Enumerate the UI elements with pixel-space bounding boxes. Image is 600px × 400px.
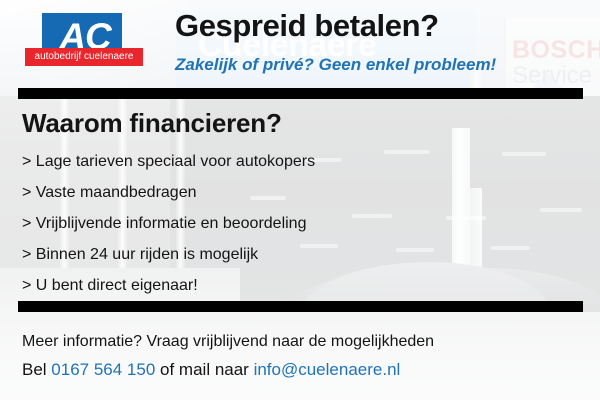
footer-call-label: Bel bbox=[22, 360, 51, 379]
section-title: Waarom financieren? bbox=[22, 108, 282, 139]
list-item: > Vrijblijvende informatie en beoordelin… bbox=[22, 208, 315, 239]
page-subtitle: Zakelijk of privé? Geen enkel probleem! bbox=[175, 55, 496, 75]
logo-tagline: autobedrijf cuelenaere bbox=[25, 48, 143, 66]
divider-bottom bbox=[18, 301, 583, 312]
footer-contact-line: Bel 0167 564 150 of mail naar info@cuele… bbox=[22, 360, 400, 380]
phone-number-link[interactable]: 0167 564 150 bbox=[51, 360, 155, 379]
page-title: Gespreid betalen? bbox=[175, 8, 439, 44]
list-item: > Vaste maandbedragen bbox=[22, 177, 315, 208]
benefits-list: > Lage tarieven speciaal voor autokopers… bbox=[22, 146, 315, 301]
email-link[interactable]: info@cuelenaere.nl bbox=[254, 360, 401, 379]
banner-content: AC autobedrijf cuelenaere Gespreid betal… bbox=[0, 0, 600, 400]
footer-mail-label: of mail naar bbox=[155, 360, 253, 379]
list-item: > U bent direct eigenaar! bbox=[22, 270, 315, 301]
footer-info-text: Meer informatie? Vraag vrijblijvend naar… bbox=[22, 333, 434, 351]
divider-top bbox=[18, 88, 583, 99]
list-item: > Lage tarieven speciaal voor autokopers bbox=[22, 146, 315, 177]
finance-promo-banner: Cuelenaere BOSCH Service bbox=[0, 0, 600, 400]
list-item: > Binnen 24 uur rijden is mogelijk bbox=[22, 239, 315, 270]
